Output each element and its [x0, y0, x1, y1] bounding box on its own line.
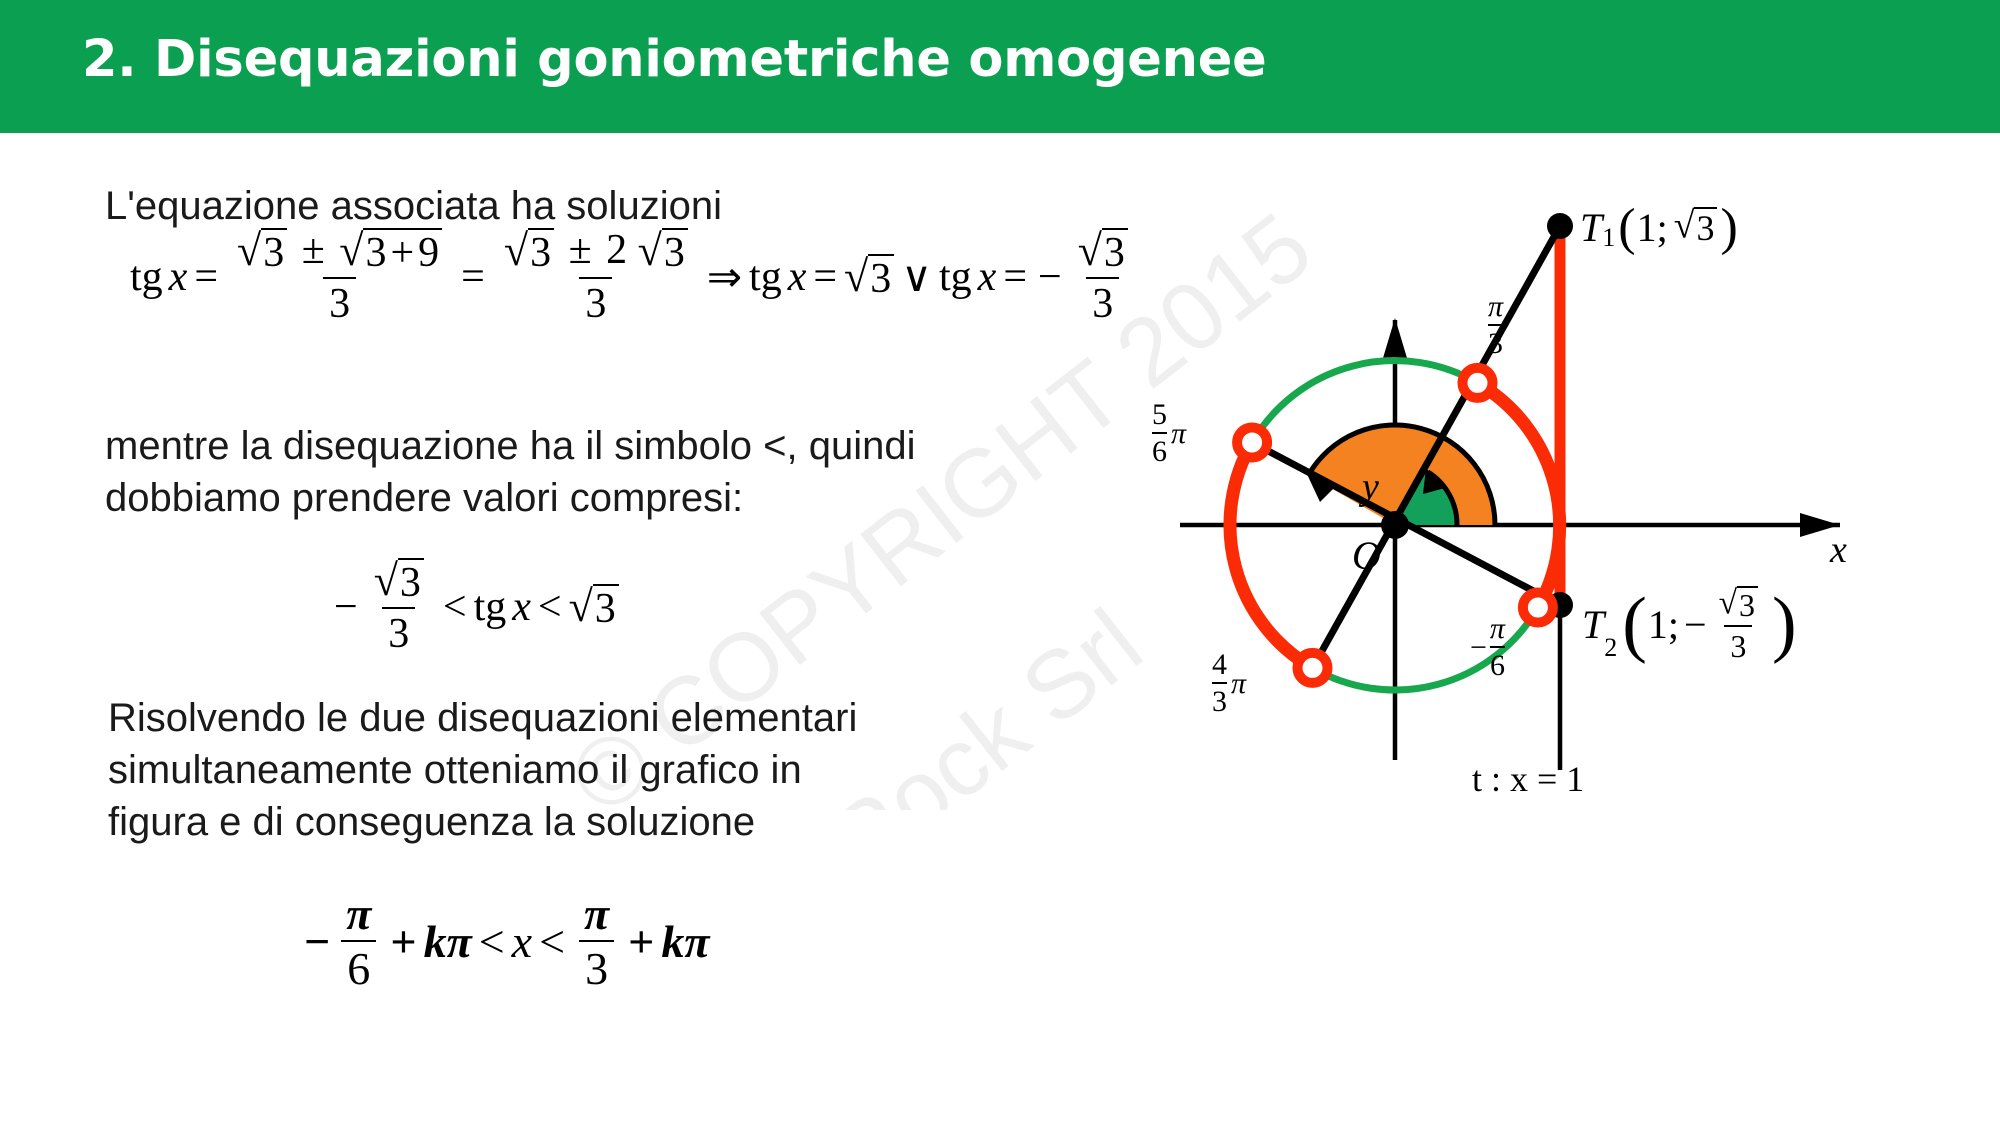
sqrt-3-d: √3	[844, 254, 894, 301]
origin-label: O	[1352, 532, 1381, 579]
axis-y-label: y	[1362, 465, 1379, 509]
denominator-3-d: 3	[382, 607, 415, 656]
page-title: 2. Disequazioni goniometriche omogenee	[82, 30, 1267, 89]
marker-minus-pi-over-6	[1523, 593, 1553, 623]
label-T2: T 2 ( 1; − √3 3 )	[1582, 582, 1797, 667]
label-pi-over-3: π 3	[1488, 290, 1503, 361]
denominator-6: 6	[341, 940, 376, 993]
variable-x: x	[163, 253, 188, 301]
less-than-1: <	[436, 583, 474, 631]
denominator-3-b: 3	[579, 277, 612, 326]
fraction-3: √3 3	[1072, 228, 1134, 326]
numerator-pi-a: π	[340, 890, 377, 940]
less-than-4: <	[532, 915, 572, 968]
paren-open-T1: (	[1615, 198, 1635, 257]
axis-y-arrow	[1383, 318, 1407, 358]
tg-operator: tg	[130, 253, 163, 301]
arc-red-left	[1230, 443, 1313, 668]
plus-sign-2: +	[621, 915, 661, 968]
marker-4pi-over-3	[1298, 653, 1328, 683]
tg-operator-4: tg	[474, 583, 507, 631]
paren-close-T1: )	[1717, 198, 1737, 257]
marker-pi-over-3	[1463, 368, 1493, 398]
denominator-3-c: 3	[1086, 277, 1119, 326]
minus-sign-3: −	[300, 915, 334, 968]
constant-k-a: k	[424, 915, 447, 968]
unit-circle-diagram: y x O π 3 5 6 π 4 3 π − π 6 T 1 ( 1; √3	[1140, 150, 1950, 970]
equals-sign-3: =	[806, 253, 844, 301]
constant-k-b: k	[661, 915, 684, 968]
equals-sign: =	[187, 253, 225, 301]
sqrt-3-b: √3	[504, 228, 554, 275]
pi-a: π	[447, 915, 472, 968]
plus-minus-a: ±	[298, 227, 329, 273]
equals-sign-4: =	[996, 253, 1034, 301]
sqrt-3-plus-9: √3+9	[339, 228, 442, 275]
fraction-1: √3 ± √3+9 3	[231, 228, 448, 326]
variable-x-5: x	[512, 915, 532, 968]
fraction-sqrt3-over-3: √3 3	[368, 558, 430, 656]
logical-or: ∨	[894, 252, 939, 302]
less-than-2: <	[531, 583, 569, 631]
tg-operator-3: tg	[939, 253, 972, 301]
variable-x-2: x	[782, 253, 807, 301]
equation-solutions: tg x = √3 ± √3+9 3 = √3 ± 2 √3 3 ⇒ tg x …	[130, 228, 1140, 326]
point-T1	[1547, 213, 1573, 239]
label-minus-pi-over-6: − π 6	[1470, 612, 1505, 683]
sqrt-3-a: √3	[237, 228, 287, 275]
fraction-pi-over-3: π 3	[578, 890, 615, 994]
implies-arrow: ⇒	[700, 252, 749, 302]
coefficient-2: 2	[606, 227, 627, 273]
sqrt-3-e: √3	[1078, 228, 1128, 275]
fraction-pi-over-6: π 6	[340, 890, 377, 994]
equals-sign-2: =	[454, 253, 492, 301]
paren-close-T2: )	[1770, 582, 1797, 667]
equation-final-solution: − π 6 + k π < x < π 3 + k π	[300, 890, 709, 994]
minus-sign: −	[1034, 253, 1066, 301]
plus-sign: +	[383, 915, 423, 968]
tg-operator-2: tg	[749, 253, 782, 301]
numerator-pi-b: π	[578, 890, 615, 940]
variable-x-4: x	[506, 583, 531, 631]
paragraph-intro: L'equazione associata ha soluzioni	[105, 180, 722, 232]
label-T1: T 1 ( 1; √3 )	[1580, 198, 1738, 257]
fraction-2: √3 ± 2 √3 3	[498, 228, 694, 326]
variable-x-3: x	[972, 253, 997, 301]
sqrt-3-f: √3	[374, 558, 424, 605]
paren-open-T2: (	[1617, 582, 1647, 667]
paragraph-conclusion: Risolvendo le due disequazioni elementar…	[108, 692, 857, 848]
pi-b: π	[684, 915, 709, 968]
equation-inequality-tg: − √3 3 < tg x < √3	[330, 558, 619, 656]
origin-point	[1381, 511, 1409, 539]
minus-sign-2: −	[330, 583, 362, 631]
less-than-3: <	[472, 915, 512, 968]
axis-x-label: x	[1830, 528, 1847, 572]
plus-minus-b: ±	[565, 227, 596, 273]
label-4pi-over-3: 4 3 π	[1212, 648, 1246, 719]
denominator-3-e: 3	[579, 940, 614, 993]
label-5pi-over-6: 5 6 π	[1152, 398, 1186, 469]
label-tangent-line: t : x = 1	[1472, 758, 1584, 800]
header-bar: 2. Disequazioni goniometriche omogenee	[0, 0, 2000, 133]
unit-circle-svg	[1140, 150, 1950, 970]
sqrt-3-c: √3	[638, 228, 688, 275]
paragraph-middle: mentre la disequazione ha il simbolo <, …	[105, 420, 916, 524]
marker-5pi-over-6	[1237, 428, 1267, 458]
sqrt-3-g: √3	[569, 584, 619, 631]
denominator-3-a: 3	[323, 277, 356, 326]
